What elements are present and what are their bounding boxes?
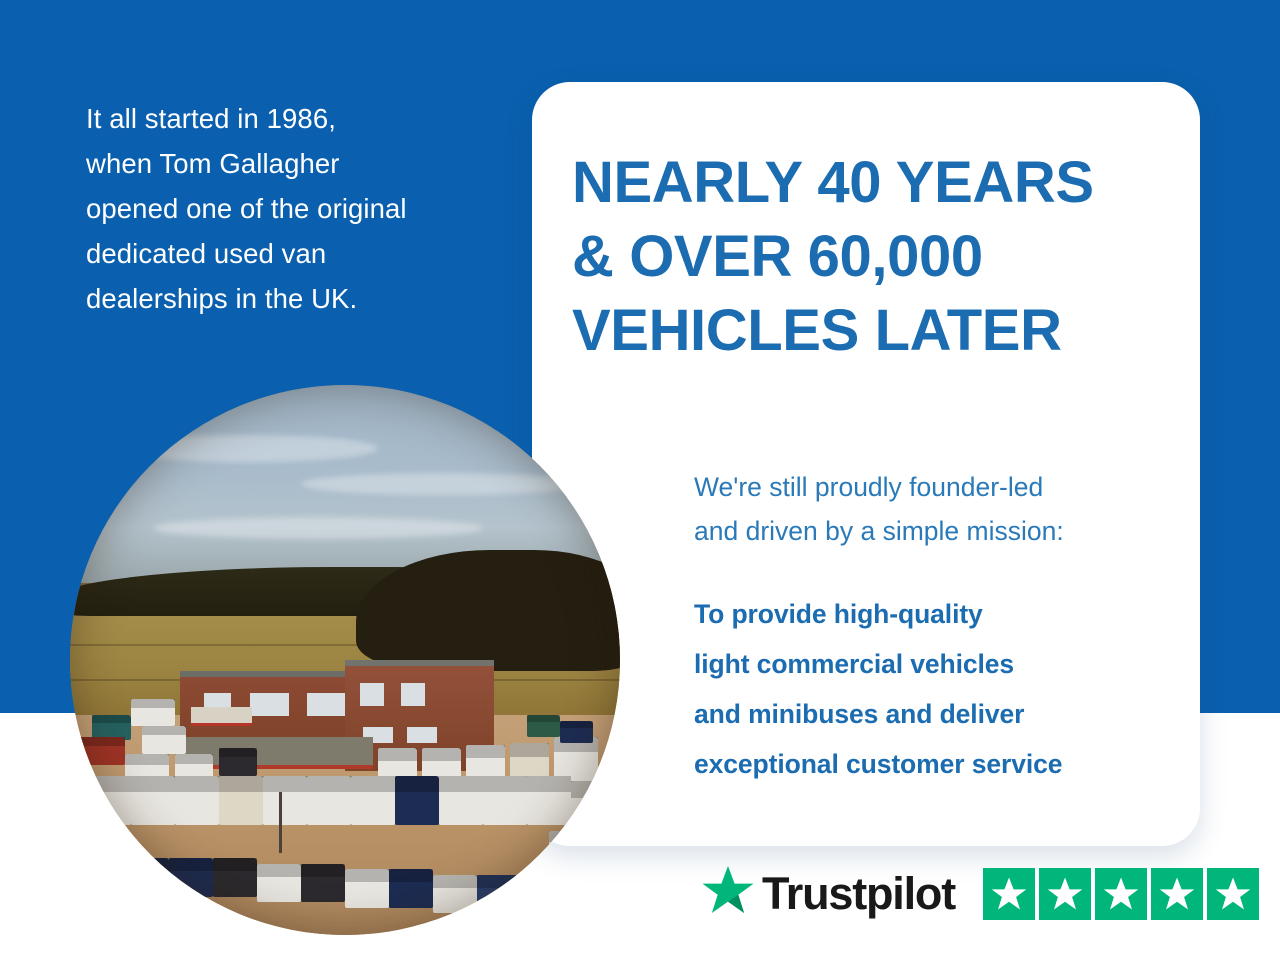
mission-statement: To provide high-quality light commercial… [694, 589, 1164, 789]
trustpilot-wordmark: Trustpilot [762, 871, 955, 916]
photo-van [345, 869, 389, 908]
trustpilot-star-icon [700, 864, 756, 923]
photo-van [213, 858, 257, 897]
photo-van [131, 699, 175, 727]
photo-van [483, 776, 527, 826]
photo-van [527, 715, 560, 737]
photo-window [250, 693, 289, 716]
photo-van [257, 864, 301, 903]
photo-canopy [186, 737, 373, 769]
photo-van [131, 776, 175, 826]
card-subtext: We're still proudly founder-led and driv… [694, 465, 1164, 553]
intro-paragraph: It all started in 1986, when Tom Gallagh… [86, 96, 506, 321]
trustpilot-stars [983, 868, 1259, 920]
photo-van [560, 721, 593, 743]
photo-van [142, 726, 186, 754]
photo-van [389, 869, 433, 908]
photo-lamp-post [279, 792, 282, 853]
photo-van [76, 737, 126, 765]
trustpilot-rating[interactable]: Trustpilot [700, 864, 1259, 923]
page-title: NEARLY 40 YEARS & OVER 60,000 VEHICLES L… [572, 146, 1182, 368]
photo-dealer-sign [191, 707, 252, 727]
photo-van [477, 875, 521, 914]
photo-van [527, 776, 571, 826]
photo-window [307, 693, 346, 716]
star-filled-icon [1039, 868, 1091, 920]
star-filled-icon [1207, 868, 1259, 920]
star-filled-icon [1095, 868, 1147, 920]
photo-window [401, 683, 425, 706]
photo-van [219, 748, 258, 776]
photo-window [360, 683, 384, 706]
photo-illustration [70, 385, 620, 935]
photo-window [407, 727, 437, 744]
photo-cloud [153, 517, 483, 539]
photo-van [301, 864, 345, 903]
photo-van [549, 831, 593, 864]
photo-van [169, 858, 213, 897]
photo-cloud [301, 473, 587, 495]
photo-van [219, 776, 263, 826]
photo-van [395, 776, 439, 826]
photo-van [307, 776, 351, 826]
photo-van [571, 781, 615, 831]
photo-cloud [114, 435, 378, 463]
photo-van [439, 776, 483, 826]
star-filled-icon [1151, 868, 1203, 920]
infographic-slide: It all started in 1986, when Tom Gallagh… [0, 0, 1280, 960]
photo-van [263, 776, 307, 826]
dealership-photo [70, 385, 620, 935]
photo-van [175, 776, 219, 826]
photo-van [87, 776, 131, 826]
photo-van [554, 737, 598, 781]
photo-van [433, 875, 477, 914]
star-filled-icon [983, 868, 1035, 920]
trustpilot-brand: Trustpilot [700, 864, 955, 923]
photo-van [351, 776, 395, 826]
photo-van [125, 858, 169, 897]
